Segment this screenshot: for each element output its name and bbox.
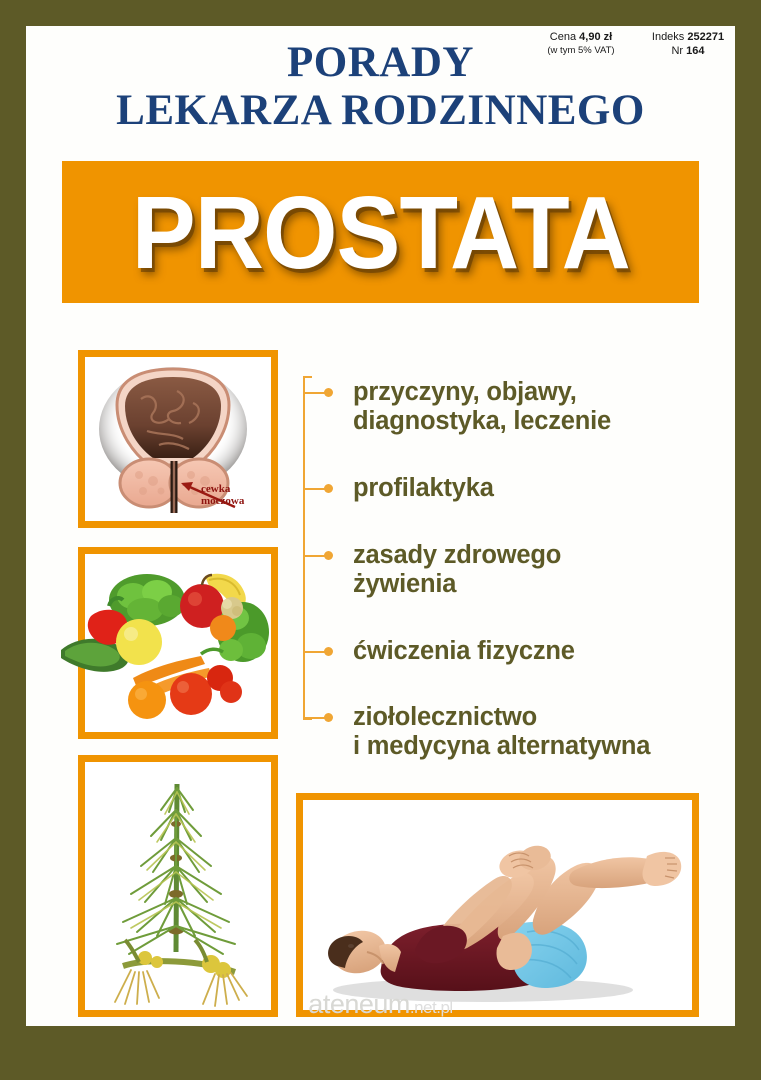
watermark: ateneum.net.pl <box>26 989 735 1020</box>
bullet-tick-icon <box>305 651 326 653</box>
watermark-name: ateneum <box>308 989 410 1019</box>
list-item: profilaktyka <box>276 474 726 503</box>
panel-herb <box>78 755 278 1017</box>
list-item-line-1: profilaktyka <box>353 474 726 503</box>
list-item-line-2: diagnostyka, leczenie <box>353 407 726 436</box>
panel-anatomy: cewka moczowa <box>78 350 278 528</box>
list-item-line-2: i medycyna alternatywna <box>353 732 726 761</box>
bullet-dot-icon <box>324 713 333 722</box>
list-item: zasady zdrowego żywienia <box>276 541 726 599</box>
list-item: przyczyny, objawy, diagnostyka, leczenie <box>276 378 726 436</box>
list-item-line-1: przyczyny, objawy, <box>353 378 726 407</box>
bullet-dot-icon <box>324 388 333 397</box>
anatomy-caption-line-2: moczowa <box>201 495 267 507</box>
masthead-line-1: PORADY <box>26 40 735 86</box>
list-item-line-1: ćwiczenia fizyczne <box>353 637 726 666</box>
topics-list: przyczyny, objawy, diagnostyka, leczenie… <box>276 356 726 761</box>
book-title: PROSTATA <box>131 181 629 284</box>
mandarin-icon <box>210 615 236 641</box>
list-item: ziołolecznictwo i medycyna alternatywna <box>276 703 726 761</box>
list-item-line-1: zasady zdrowego <box>353 541 726 570</box>
cover-page: Cena 4,90 zł (w tym 5% VAT) Indeks 25227… <box>26 26 735 1026</box>
bullet-dot-icon <box>324 484 333 493</box>
watermark-tld: .net.pl <box>410 998 453 1017</box>
title-banner: PROSTATA <box>62 161 699 303</box>
masthead-line-2: LEKARZA RODZINNEGO <box>26 86 735 136</box>
book-cover: Cena 4,90 zł (w tym 5% VAT) Indeks 25227… <box>0 0 761 1080</box>
yellow-apple-icon <box>116 619 162 665</box>
panel-exercise <box>296 793 699 1017</box>
bullet-tick-icon <box>305 392 326 394</box>
bullet-tick-icon <box>305 555 326 557</box>
anatomy-caption: cewka moczowa <box>201 483 267 507</box>
orange-icon <box>128 681 166 719</box>
list-item: ćwiczenia fizyczne <box>276 637 726 666</box>
bullet-tick-icon <box>305 488 326 490</box>
bullet-dot-icon <box>324 551 333 560</box>
bullet-dot-icon <box>324 647 333 656</box>
anatomy-caption-line-1: cewka <box>201 483 267 495</box>
series-masthead: PORADY LEKARZA RODZINNEGO <box>26 40 735 136</box>
vegetables-photo <box>85 554 271 732</box>
stretching-exercise-photo <box>303 800 692 1010</box>
panel-vegetables <box>78 547 278 739</box>
horsetail-plant-illustration <box>85 762 271 1010</box>
list-item-line-1: ziołolecznictwo <box>353 703 726 732</box>
list-item-line-2: żywienia <box>353 570 726 599</box>
bullet-tick-icon <box>305 717 326 719</box>
